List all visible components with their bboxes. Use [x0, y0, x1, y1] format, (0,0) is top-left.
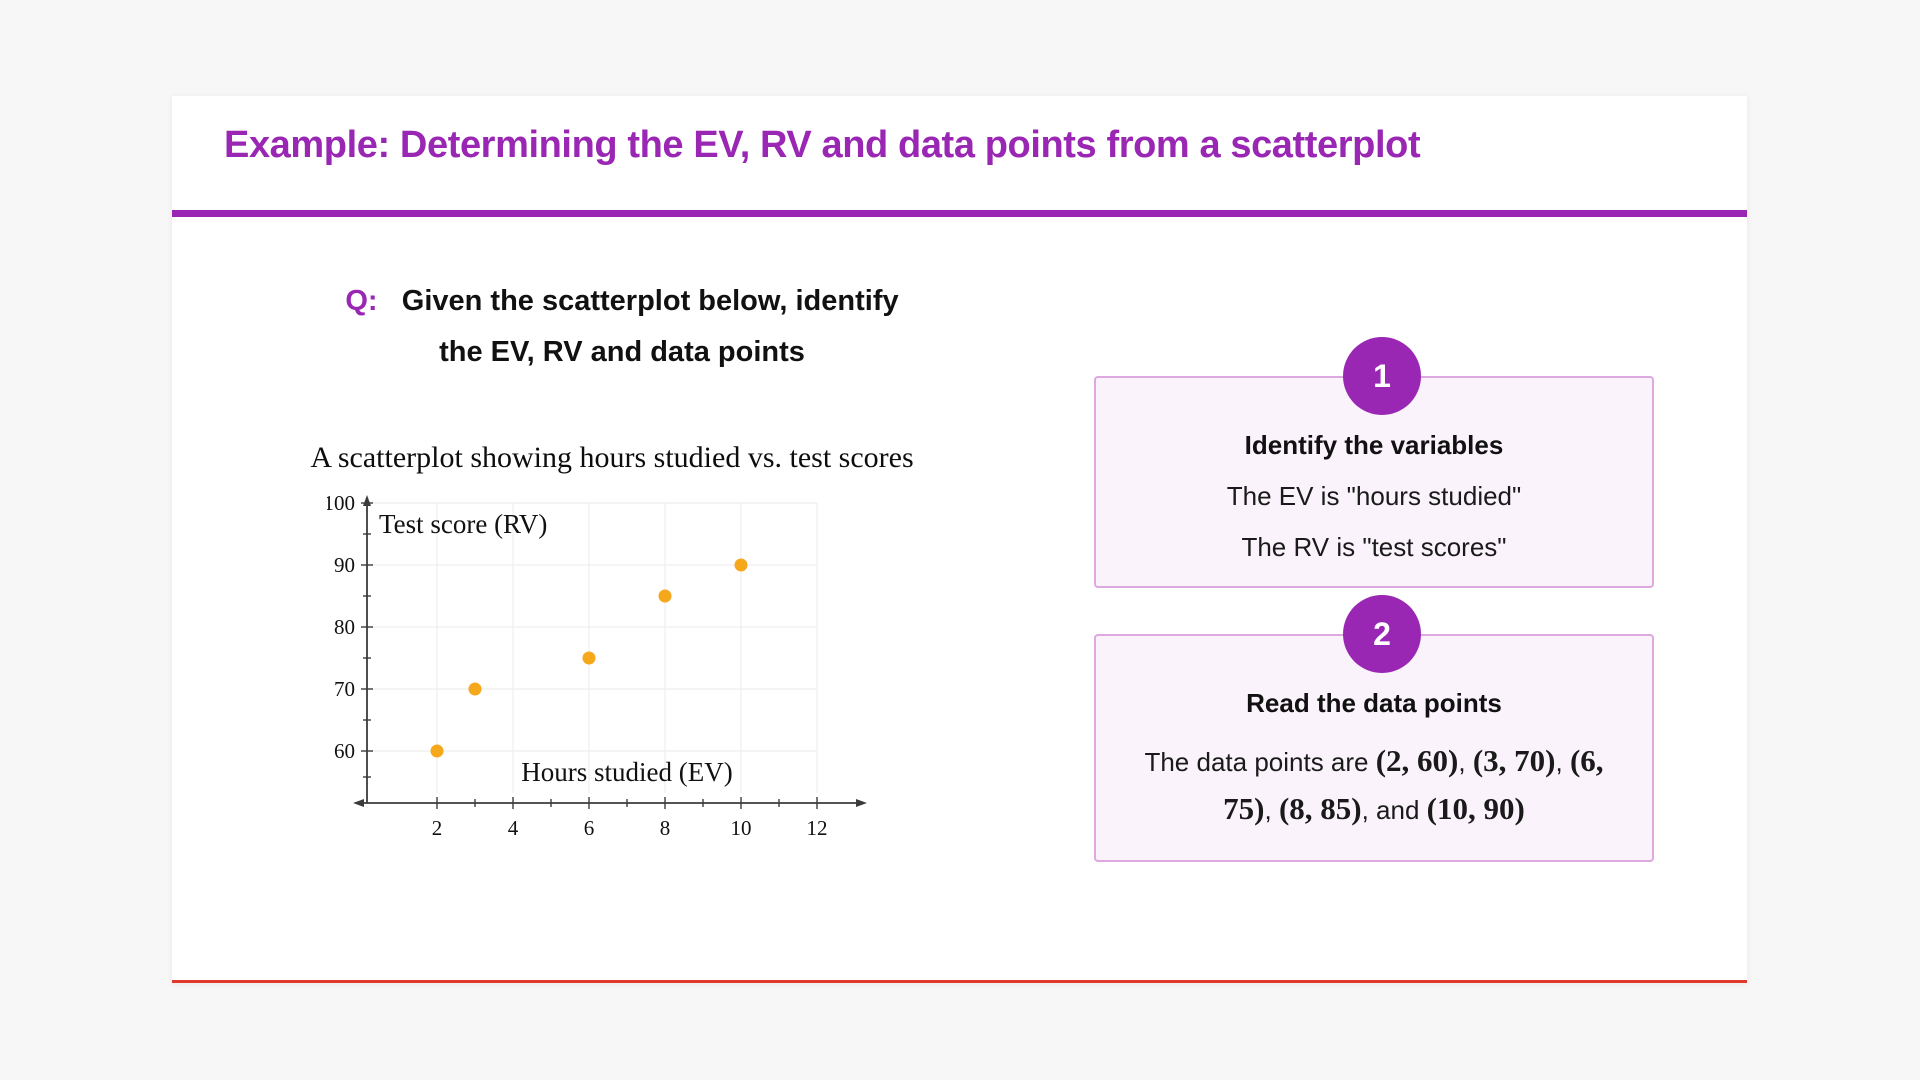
y-tick-label-80: 80 — [334, 615, 355, 639]
plot-area: 100 90 80 70 60 2 4 6 8 10 12 Test score — [327, 493, 887, 843]
y-axis — [363, 495, 371, 803]
x-axis — [353, 799, 867, 807]
x-tick-label-10: 10 — [731, 816, 752, 840]
left-column: Q: Given the scatterplot below, identify… — [212, 236, 1042, 956]
x-tick-label-12: 12 — [807, 816, 828, 840]
slide-canvas: Example: Determining the EV, RV and data… — [0, 0, 1920, 1080]
scatterplot-figure: A scatterplot showing hours studied vs. … — [212, 441, 1012, 861]
step-1-badge: 1 — [1343, 337, 1421, 415]
page-title: Example: Determining the EV, RV and data… — [224, 124, 1420, 167]
data-point-token-1: (2, 60) — [1376, 743, 1459, 778]
y-tick-label-100: 100 — [327, 493, 355, 515]
grid-vertical — [437, 503, 817, 793]
y-tick-label-70: 70 — [334, 677, 355, 701]
y-tick-label-90: 90 — [334, 553, 355, 577]
grid-horizontal — [367, 503, 817, 751]
scatter-svg: 100 90 80 70 60 2 4 6 8 10 12 Test score — [327, 493, 887, 843]
x-tick-label-2: 2 — [432, 816, 443, 840]
data-point-token-2: (3, 70) — [1473, 743, 1556, 778]
data-point-token-5: (10, 90) — [1427, 791, 1525, 826]
data-point — [735, 559, 748, 572]
step-2-body-prefix: The data points are — [1144, 747, 1375, 777]
question-block: Q: Given the scatterplot below, identify… — [242, 276, 1002, 378]
question-marker: Q: — [345, 285, 377, 317]
slide-header: Example: Determining the EV, RV and data… — [172, 96, 1747, 216]
chart-title: A scatterplot showing hours studied vs. … — [212, 441, 1012, 475]
question-line-2: the EV, RV and data points — [242, 327, 1002, 378]
x-tick-label-8: 8 — [660, 816, 671, 840]
data-point — [431, 745, 444, 758]
step-2-conjunction: and — [1376, 795, 1419, 825]
question-line-1: Given the scatterplot below, identify — [402, 285, 899, 317]
step-2-body: The data points are (2, 60), (3, 70), (6… — [1096, 737, 1652, 833]
step-2-heading: Read the data points — [1096, 688, 1652, 719]
data-point — [583, 652, 596, 665]
step-2-badge: 2 — [1343, 595, 1421, 673]
data-point — [469, 683, 482, 696]
data-point-token-4: (8, 85) — [1279, 791, 1362, 826]
y-axis-label: Test score (RV) — [379, 509, 547, 539]
step-1-heading: Identify the variables — [1096, 430, 1652, 461]
data-point — [659, 590, 672, 603]
header-divider — [172, 210, 1747, 217]
x-axis-label: Hours studied (EV) — [521, 757, 732, 787]
steps-column: 1 Identify the variables The EV is "hour… — [1052, 236, 1712, 956]
step-1-line-2: The RV is "test scores" — [1096, 532, 1652, 563]
step-1-line-1: The EV is "hours studied" — [1096, 481, 1652, 512]
x-tick-label-6: 6 — [584, 816, 595, 840]
slide-bottom-rule — [172, 980, 1747, 983]
y-tick-label-60: 60 — [334, 739, 355, 763]
x-tick-label-4: 4 — [508, 816, 519, 840]
slide-card: Example: Determining the EV, RV and data… — [172, 96, 1747, 983]
